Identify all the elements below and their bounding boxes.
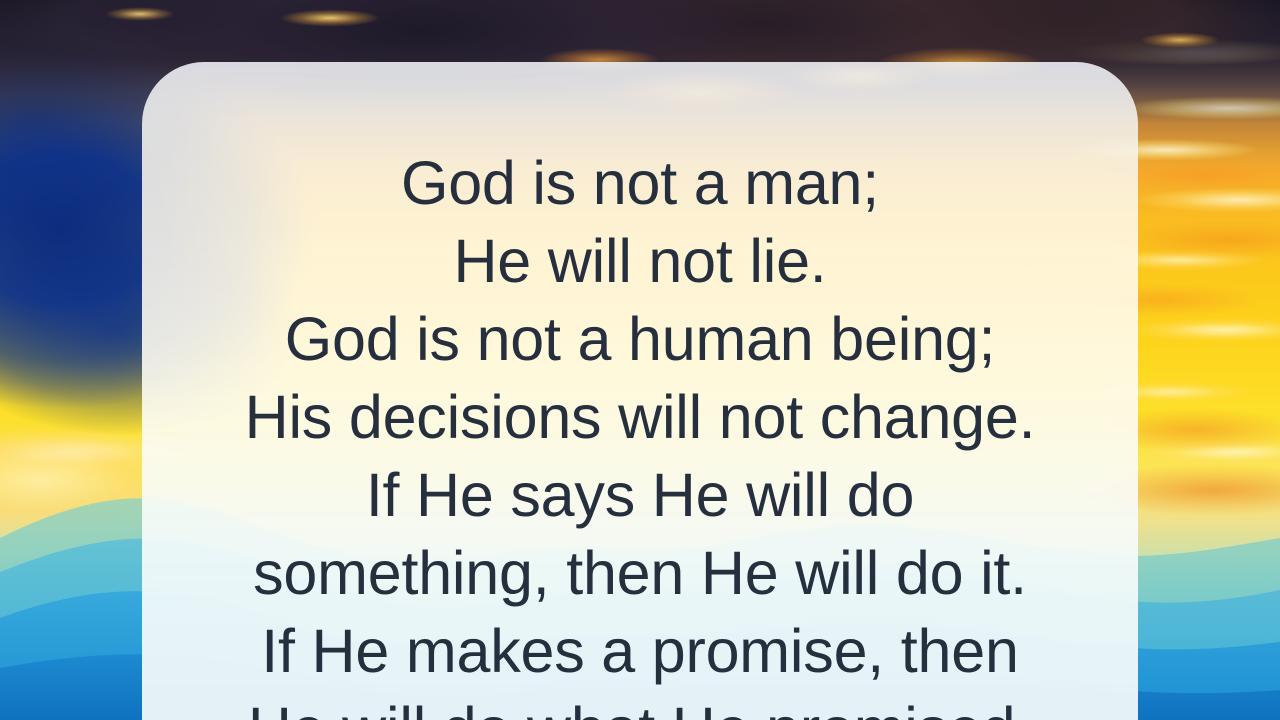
quote-line: If He says He will do xyxy=(142,456,1138,534)
screenshot-stage: God is not a man; He will not lie. God i… xyxy=(0,0,1280,720)
quote-line: His decisions will not change. xyxy=(142,378,1138,456)
quote-text-block: God is not a man; He will not lie. God i… xyxy=(142,144,1138,720)
scripture-quote-card: God is not a man; He will not lie. God i… xyxy=(142,62,1138,720)
quote-line: He will not lie. xyxy=(142,222,1138,300)
quote-line: God is not a man; xyxy=(142,144,1138,222)
quote-line: something, then He will do it. xyxy=(142,534,1138,612)
quote-line: If He makes a promise, then xyxy=(142,612,1138,690)
quote-line: God is not a human being; xyxy=(142,300,1138,378)
quote-line: He will do what He promised. xyxy=(142,690,1138,720)
